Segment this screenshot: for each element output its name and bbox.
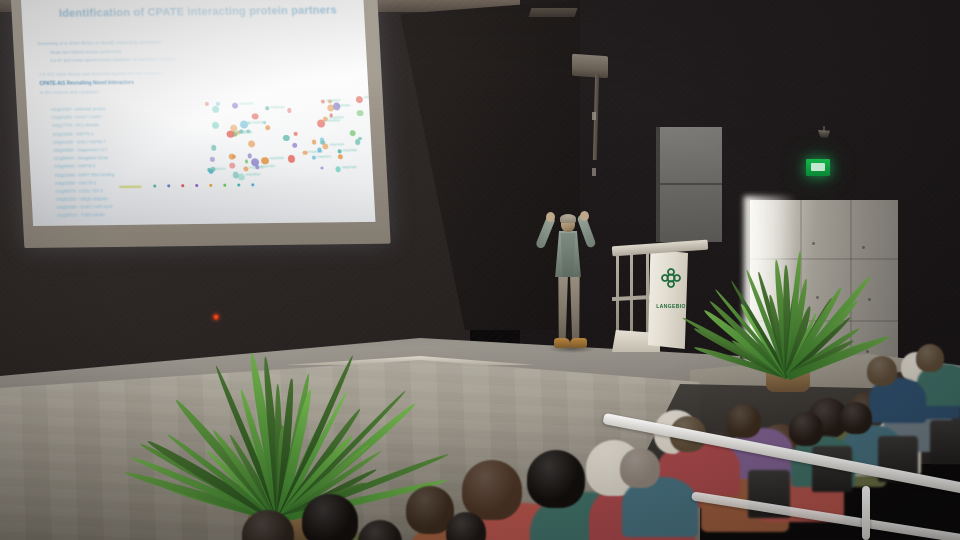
network-node (248, 154, 253, 158)
legend-dot (251, 183, 255, 186)
network-node-label: At2g51015 (270, 105, 285, 109)
form-tie-hole (812, 242, 815, 245)
network-node (283, 135, 290, 141)
speaker-clip (592, 168, 596, 176)
audience-member-head (867, 356, 897, 386)
slide-title: Identification of CPATE interacting prot… (47, 4, 348, 21)
network-node (229, 163, 235, 169)
network-node (247, 121, 251, 124)
exit-sign-icon (806, 159, 830, 176)
network-node (262, 121, 266, 125)
legend-dot (181, 184, 185, 187)
auditorium-seat (930, 420, 960, 464)
audience-member-head (358, 520, 402, 540)
audience-member-head (242, 510, 294, 540)
network-node (312, 140, 317, 145)
network-node (211, 122, 219, 129)
wall-speaker-icon (572, 54, 608, 79)
audience-member-head (462, 460, 522, 520)
network-node (245, 160, 249, 163)
network-node (302, 151, 307, 156)
audience-member-head (620, 448, 660, 488)
network-node (287, 155, 295, 162)
network-node (211, 145, 217, 150)
network-node (321, 99, 326, 104)
screen-surface: Identification of CPATE interacting prot… (21, 0, 376, 226)
audience-member-head (727, 404, 761, 438)
network-node (355, 139, 361, 144)
slide-bullet-list: Screening of a cDNA library to identify … (37, 36, 350, 98)
handrail-post (862, 486, 870, 540)
network-node (248, 140, 255, 147)
network-node (210, 167, 215, 172)
network-node (292, 143, 298, 149)
network-node (320, 166, 324, 170)
audience-member-head (789, 412, 823, 446)
network-node-label: At4g78524 (246, 172, 261, 176)
network-node-label: At3g34964 (235, 129, 250, 133)
audience-member-head (916, 344, 944, 372)
network-node (210, 157, 215, 162)
network-node (232, 154, 236, 158)
network-node (338, 155, 343, 160)
network-node-label: At5g67695 (342, 165, 357, 169)
interaction-network-diagram: At4g33990At3g54492At2g51812At4g22312At1g… (196, 92, 366, 180)
list-item: At1g20010 - TUB5 tubulin (56, 210, 207, 220)
seated-audience (0, 300, 960, 540)
network-node (358, 137, 362, 141)
network-node (227, 130, 235, 138)
network-node-label: At4g37305 (260, 164, 275, 168)
network-node (232, 103, 238, 109)
network-node (335, 166, 341, 172)
network-node (349, 130, 356, 136)
exit-sign-glyph (811, 163, 825, 171)
door-seam (660, 183, 722, 185)
network-node (205, 102, 209, 106)
network-node-label: At3g14184 (329, 142, 344, 146)
network-node (233, 172, 239, 178)
auditorium-photo: Identification of CPATE interacting prot… (0, 0, 960, 540)
legend-dot (209, 184, 213, 187)
legend-dot (237, 183, 241, 186)
network-node-label: At3g33898 (269, 156, 284, 160)
network-node-label: At3g70902 (342, 148, 357, 152)
network-node (355, 96, 363, 103)
audience-member-head (840, 402, 872, 434)
presenter-hair (560, 214, 576, 223)
legend-dot (153, 185, 157, 188)
presenter-left-hand (546, 212, 555, 222)
presenter-right-hand (580, 211, 589, 221)
network-node (357, 110, 364, 117)
network-node (337, 149, 341, 153)
network-node (317, 147, 322, 152)
network-node (311, 155, 315, 159)
network-node-label: At5g12344 (239, 102, 254, 106)
projection-screen: Identification of CPATE interacting prot… (11, 0, 396, 262)
network-node (322, 143, 329, 150)
audience-member-head (302, 494, 358, 540)
legend-dot (223, 184, 227, 187)
network-node (265, 106, 269, 110)
network-node (265, 125, 270, 130)
network-node (212, 106, 219, 113)
network-node-label: At4g22312 (317, 154, 332, 158)
legend-dot (195, 184, 199, 187)
network-node (252, 113, 259, 120)
network-node (333, 102, 341, 110)
ceiling-vent (529, 8, 578, 17)
network-node (329, 114, 333, 118)
langebio-logo-icon (659, 266, 683, 290)
network-node (243, 166, 248, 171)
network-node (287, 108, 292, 113)
network-node-label: At2g83547 (326, 98, 341, 102)
legend-dot (167, 184, 171, 187)
form-tie-hole (862, 246, 865, 249)
legend-scale-bar (119, 185, 141, 187)
slide-candidate-list: At1g01020 - unknown protein At1g04250 - … (51, 104, 207, 220)
network-legend (119, 180, 360, 191)
speaker-clip (592, 112, 596, 120)
network-node (293, 132, 297, 136)
audience-member-head (527, 450, 585, 508)
